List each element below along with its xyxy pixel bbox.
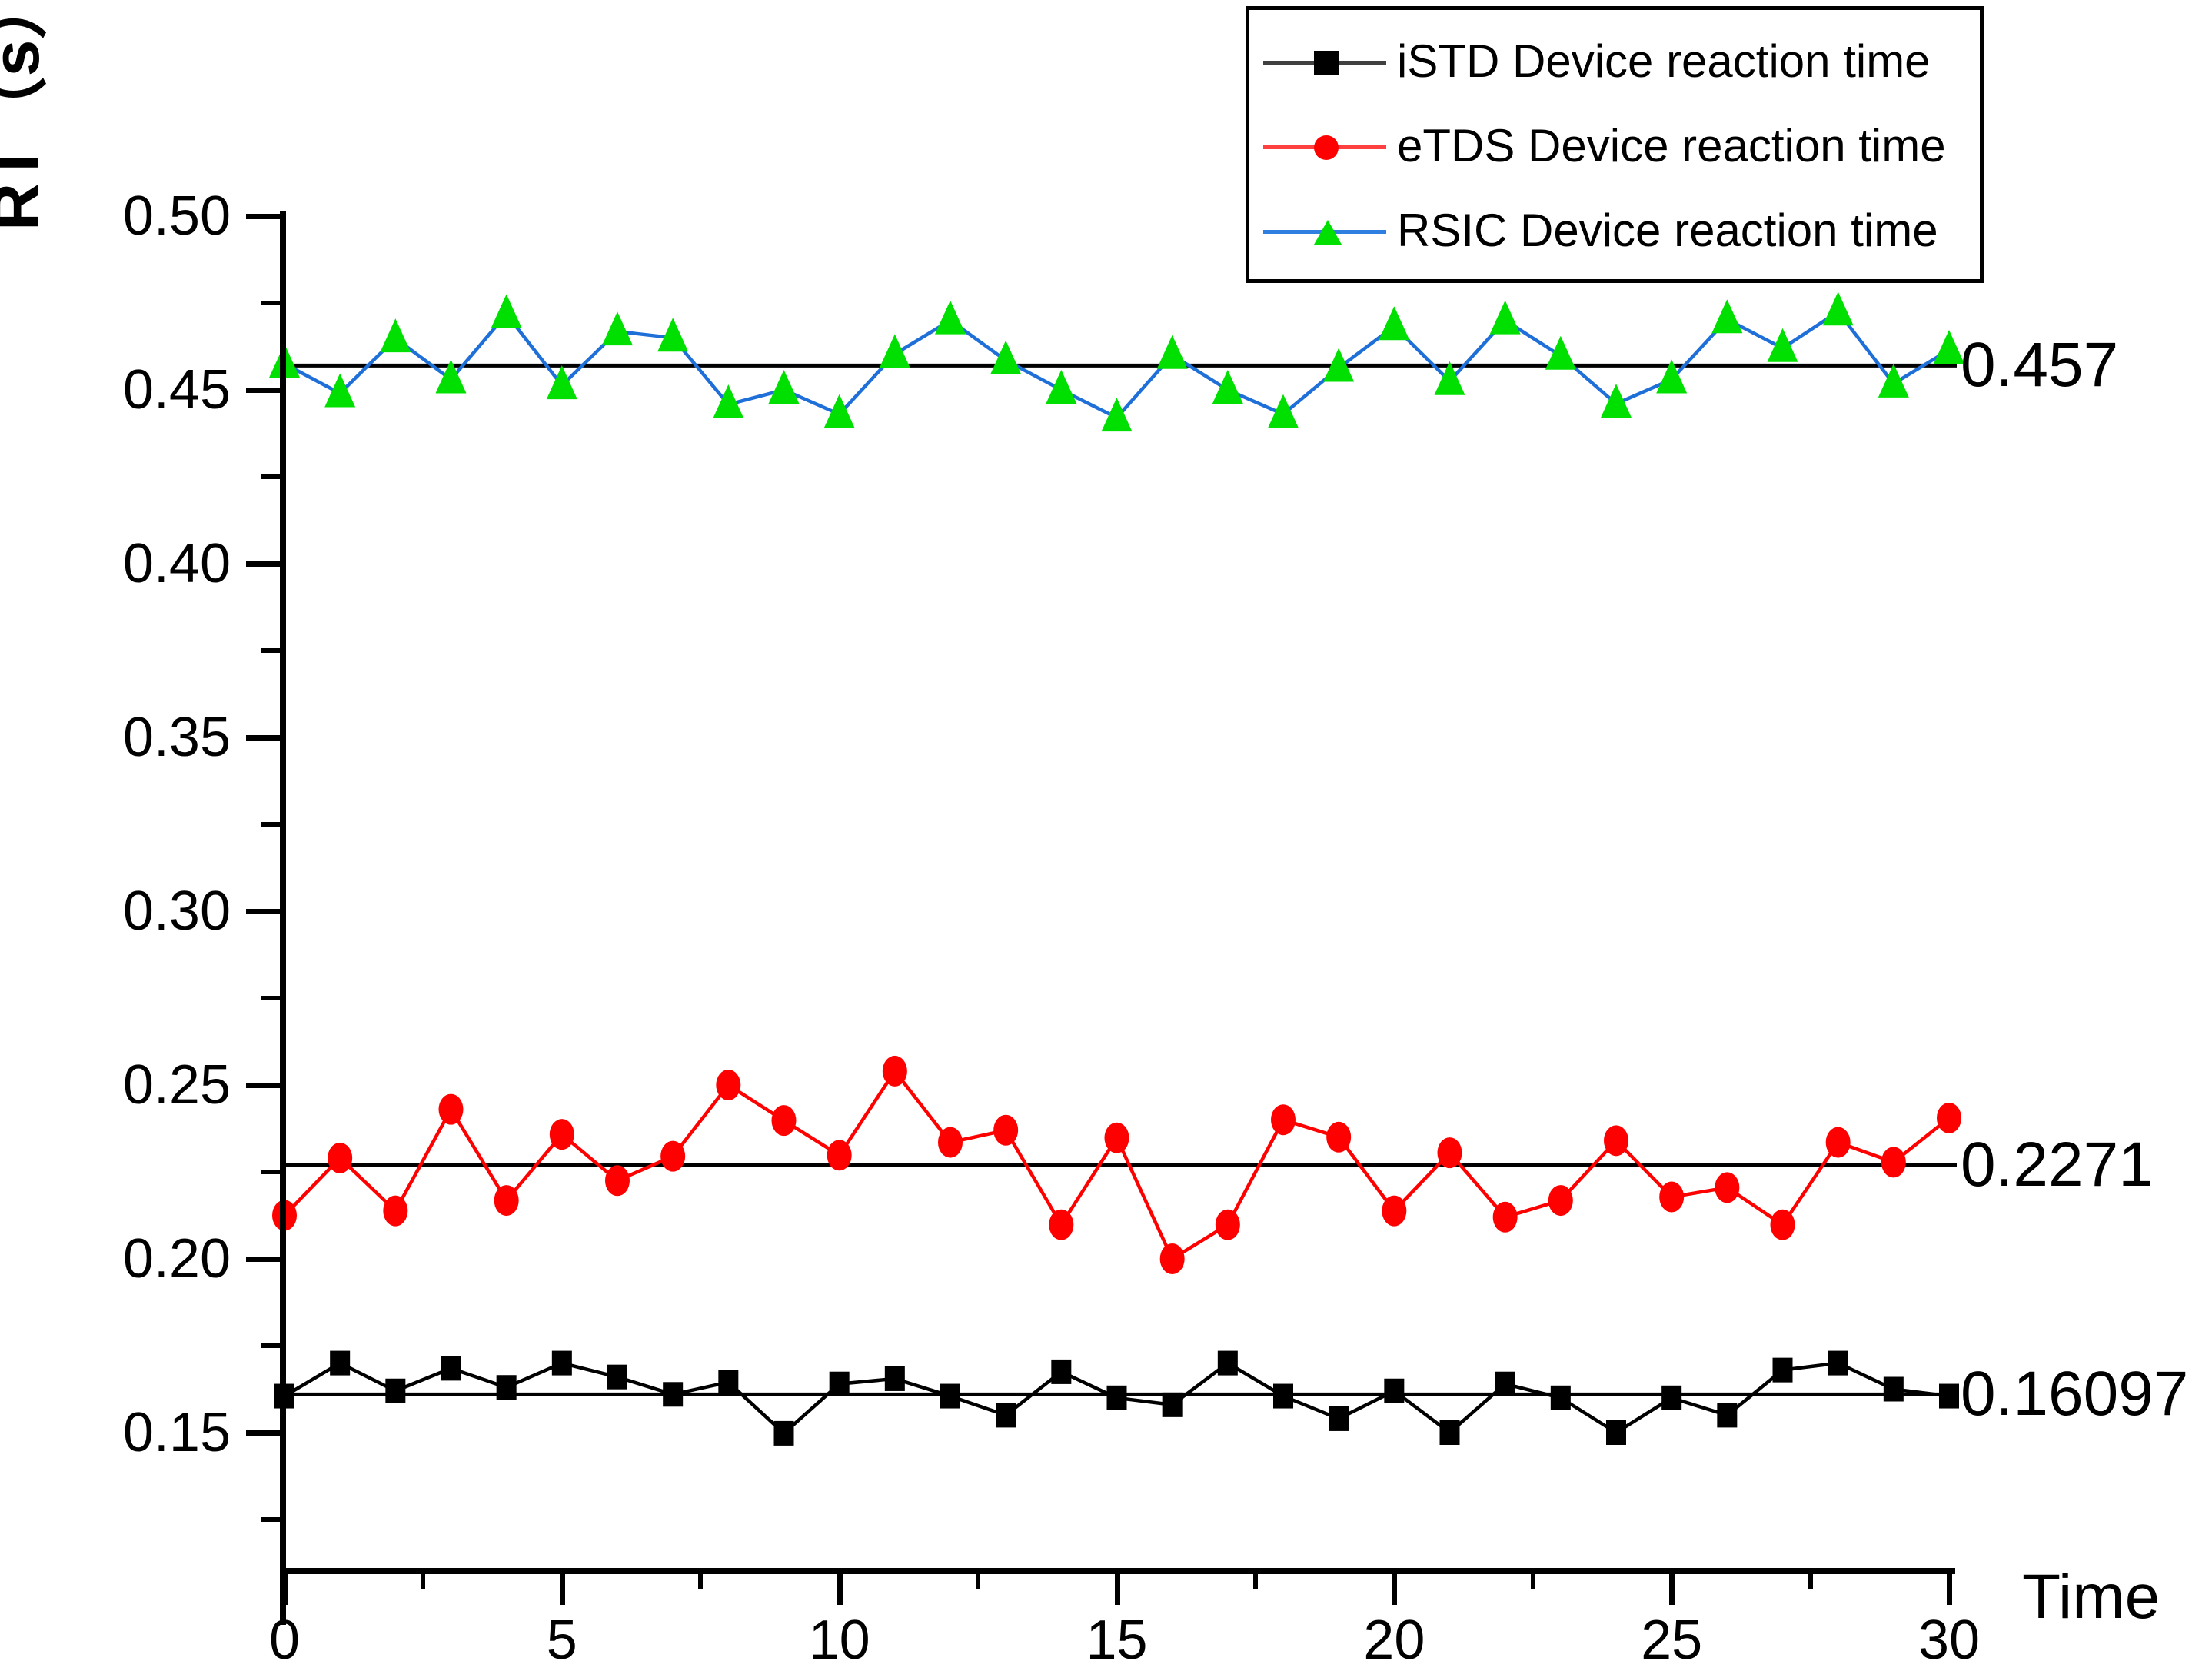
data-point-marker bbox=[1551, 1386, 1571, 1410]
data-point-marker bbox=[383, 1196, 407, 1227]
data-point-marker bbox=[718, 1370, 738, 1394]
data-point-marker bbox=[1271, 1104, 1296, 1135]
x-axis-line bbox=[280, 1568, 1955, 1574]
data-point-marker bbox=[1656, 359, 1687, 393]
data-point-marker bbox=[830, 1372, 850, 1396]
y-axis-line bbox=[280, 211, 286, 1625]
chart-legend: iSTD Device reaction time eTDS Device re… bbox=[1246, 6, 1984, 283]
data-point-marker bbox=[439, 1094, 464, 1125]
data-point-marker bbox=[1773, 1358, 1793, 1383]
data-point-marker bbox=[660, 1141, 685, 1172]
x-tick-label: 5 bbox=[547, 1613, 577, 1668]
data-point-marker bbox=[1490, 301, 1521, 335]
data-point-marker bbox=[552, 1351, 572, 1376]
data-point-marker bbox=[774, 1421, 794, 1446]
data-point-marker bbox=[1435, 361, 1465, 395]
data-point-marker bbox=[996, 1403, 1016, 1427]
data-point-marker bbox=[885, 1366, 905, 1391]
data-point-marker bbox=[1329, 1406, 1349, 1431]
data-point-marker bbox=[1163, 1393, 1183, 1417]
data-point-marker bbox=[1323, 348, 1354, 382]
legend-label-istd: iSTD Device reaction time bbox=[1397, 38, 1931, 85]
y-tick-major bbox=[246, 388, 280, 393]
y-tick-label: 0.35 bbox=[0, 710, 231, 765]
data-point-marker bbox=[1604, 1125, 1628, 1156]
mean-value-annotation: 0.457 bbox=[1961, 334, 2118, 397]
data-point-marker bbox=[1715, 1172, 1739, 1203]
y-tick-label: 0.15 bbox=[0, 1405, 231, 1460]
y-tick-label: 0.45 bbox=[0, 362, 231, 418]
data-point-marker bbox=[607, 1365, 627, 1390]
data-point-marker bbox=[1878, 364, 1909, 398]
data-point-marker bbox=[328, 1143, 352, 1173]
data-point-marker bbox=[547, 365, 577, 399]
data-point-marker bbox=[1326, 1122, 1351, 1153]
y-tick-minor bbox=[261, 301, 280, 305]
circle-marker-icon bbox=[1314, 135, 1339, 160]
data-point-marker bbox=[1046, 370, 1076, 404]
data-point-marker bbox=[1717, 1403, 1737, 1427]
data-point-marker bbox=[657, 318, 688, 351]
data-point-marker bbox=[938, 1127, 963, 1158]
data-point-marker bbox=[1711, 299, 1742, 333]
y-tick-minor bbox=[261, 1343, 280, 1348]
legend-label-rsic: RSIC Device reaction time bbox=[1397, 208, 1938, 254]
y-tick-minor bbox=[261, 996, 280, 1000]
x-tick-label: 10 bbox=[809, 1613, 870, 1668]
triangle-marker-icon bbox=[1314, 220, 1342, 245]
data-point-marker bbox=[385, 1379, 405, 1403]
data-point-marker bbox=[1160, 1243, 1185, 1274]
legend-sample-etds bbox=[1263, 112, 1386, 181]
data-point-marker bbox=[436, 359, 467, 393]
y-tick-label: 0.20 bbox=[0, 1231, 231, 1287]
y-tick-major bbox=[246, 1257, 280, 1262]
x-tick-label: 25 bbox=[1641, 1613, 1702, 1668]
y-tick-minor bbox=[261, 648, 280, 653]
data-point-marker bbox=[380, 318, 411, 352]
y-tick-major bbox=[246, 909, 280, 914]
data-point-marker bbox=[1771, 1210, 1795, 1240]
data-point-marker bbox=[550, 1119, 574, 1150]
legend-label-etds: eTDS Device reaction time bbox=[1397, 123, 1946, 169]
y-tick-major bbox=[246, 561, 280, 567]
y-tick-minor bbox=[261, 474, 280, 479]
data-point-marker bbox=[1606, 1420, 1626, 1445]
data-point-marker bbox=[1934, 330, 1964, 364]
data-point-marker bbox=[324, 374, 355, 408]
data-point-marker bbox=[1440, 1420, 1460, 1445]
data-point-marker bbox=[1939, 1384, 1959, 1409]
data-point-marker bbox=[1884, 1377, 1904, 1402]
y-tick-label: 0.30 bbox=[0, 884, 231, 939]
data-point-marker bbox=[330, 1351, 350, 1376]
data-point-marker bbox=[1268, 394, 1299, 428]
series-line bbox=[284, 311, 1949, 418]
y-axis-title: RT（s） bbox=[0, 0, 49, 231]
data-point-marker bbox=[827, 1140, 852, 1170]
data-point-marker bbox=[1438, 1137, 1462, 1168]
series-line bbox=[284, 1363, 1949, 1433]
data-point-marker bbox=[1545, 336, 1576, 370]
x-tick-label: 15 bbox=[1086, 1613, 1147, 1668]
y-tick-major bbox=[246, 214, 280, 219]
square-marker-icon bbox=[1314, 51, 1339, 75]
data-point-marker bbox=[1379, 306, 1409, 340]
data-point-marker bbox=[1659, 1182, 1684, 1213]
data-point-marker bbox=[1273, 1384, 1293, 1409]
data-point-marker bbox=[1548, 1185, 1573, 1216]
y-tick-minor bbox=[261, 1170, 280, 1174]
y-tick-label: 0.40 bbox=[0, 536, 231, 591]
data-point-marker bbox=[605, 1165, 630, 1196]
series-line bbox=[284, 1071, 1949, 1259]
data-point-marker bbox=[1157, 335, 1188, 369]
data-point-marker bbox=[602, 311, 633, 345]
legend-sample-rsic bbox=[1263, 196, 1386, 265]
data-point-marker bbox=[1768, 328, 1798, 362]
data-point-marker bbox=[935, 301, 966, 335]
data-point-marker bbox=[1382, 1196, 1406, 1227]
data-point-marker bbox=[769, 370, 800, 404]
data-point-marker bbox=[1102, 398, 1133, 431]
data-point-marker bbox=[1107, 1386, 1127, 1410]
data-point-marker bbox=[1049, 1210, 1073, 1240]
data-point-marker bbox=[1218, 1351, 1238, 1376]
mean-value-annotation: 0.16097 bbox=[1961, 1363, 2188, 1426]
data-point-marker bbox=[716, 1070, 740, 1100]
x-tick-major bbox=[837, 1571, 843, 1605]
data-point-marker bbox=[1661, 1386, 1681, 1410]
data-point-marker bbox=[1212, 370, 1243, 404]
data-point-marker bbox=[497, 1375, 517, 1400]
data-point-marker bbox=[1828, 1351, 1848, 1376]
data-point-marker bbox=[1937, 1103, 1961, 1133]
y-tick-major bbox=[246, 1430, 280, 1436]
y-tick-major bbox=[246, 1083, 280, 1088]
data-point-marker bbox=[1823, 291, 1854, 325]
mean-value-annotation: 0.2271 bbox=[1961, 1133, 2154, 1197]
data-point-marker bbox=[880, 334, 910, 368]
x-tick-major bbox=[1115, 1571, 1120, 1605]
y-tick-minor bbox=[261, 822, 280, 827]
data-point-marker bbox=[1051, 1360, 1071, 1384]
legend-item-etds[interactable]: eTDS Device reaction time bbox=[1249, 112, 1980, 181]
data-point-marker bbox=[990, 341, 1021, 374]
data-point-marker bbox=[1216, 1210, 1240, 1240]
data-point-marker bbox=[1384, 1379, 1404, 1403]
data-point-marker bbox=[713, 384, 743, 418]
data-point-marker bbox=[491, 294, 522, 328]
y-tick-minor bbox=[261, 1517, 280, 1522]
x-tick-label: 20 bbox=[1363, 1613, 1425, 1668]
data-point-marker bbox=[1601, 384, 1632, 418]
data-point-marker bbox=[441, 1356, 461, 1380]
data-point-marker bbox=[1495, 1372, 1515, 1396]
data-point-marker bbox=[1881, 1147, 1906, 1177]
chart-figure: RT（s） Time 0.500.450.400.350.300.250.200… bbox=[0, 0, 2212, 1671]
data-point-marker bbox=[494, 1185, 519, 1216]
x-tick-label: 30 bbox=[1918, 1613, 1980, 1668]
data-point-marker bbox=[940, 1384, 960, 1409]
data-point-marker bbox=[824, 394, 855, 428]
legend-sample-istd bbox=[1263, 27, 1386, 96]
data-point-marker bbox=[772, 1105, 797, 1136]
data-point-marker bbox=[1493, 1202, 1518, 1233]
legend-item-istd[interactable]: iSTD Device reaction time bbox=[1249, 27, 1980, 96]
x-tick-major bbox=[1669, 1571, 1675, 1605]
x-axis-title: Time bbox=[2022, 1566, 2160, 1629]
legend-item-rsic[interactable]: RSIC Device reaction time bbox=[1249, 196, 1980, 265]
data-point-marker bbox=[883, 1056, 907, 1087]
y-tick-label: 0.25 bbox=[0, 1057, 231, 1113]
data-point-marker bbox=[1105, 1123, 1129, 1153]
data-point-marker bbox=[663, 1382, 683, 1406]
data-point-marker bbox=[1826, 1127, 1851, 1158]
x-tick-major bbox=[1947, 1571, 1952, 1605]
x-tick-major bbox=[1392, 1571, 1397, 1605]
x-tick-major bbox=[560, 1571, 565, 1605]
y-tick-major bbox=[246, 735, 280, 741]
data-point-marker bbox=[993, 1115, 1018, 1146]
